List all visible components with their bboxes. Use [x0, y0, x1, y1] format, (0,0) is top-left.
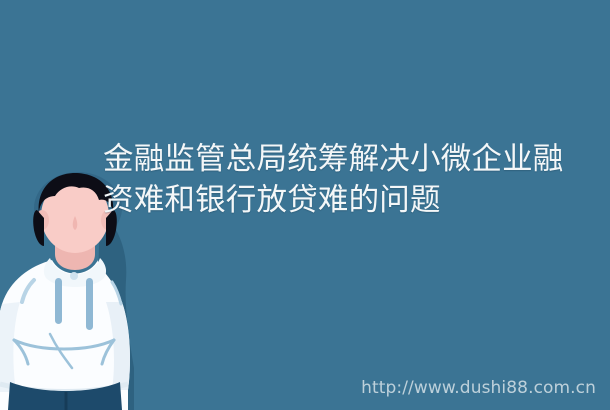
- headline-line-1: 金融监管总局统筹解决小微企业融: [103, 139, 593, 180]
- headline: 金融监管总局统筹解决小微企业融 资难和银行放贷难的问题: [103, 139, 593, 221]
- news-thumbnail-banner: 金融监管总局统筹解决小微企业融 资难和银行放贷难的问题 http://www.d…: [0, 0, 610, 410]
- drawstring-right: [86, 278, 93, 330]
- headline-line-2: 资难和银行放贷难的问题: [103, 180, 593, 221]
- watermark-url: http://www.dushi88.com.cn: [361, 378, 596, 398]
- drawstring-left: [55, 278, 62, 324]
- hood-eyelet: [70, 272, 78, 280]
